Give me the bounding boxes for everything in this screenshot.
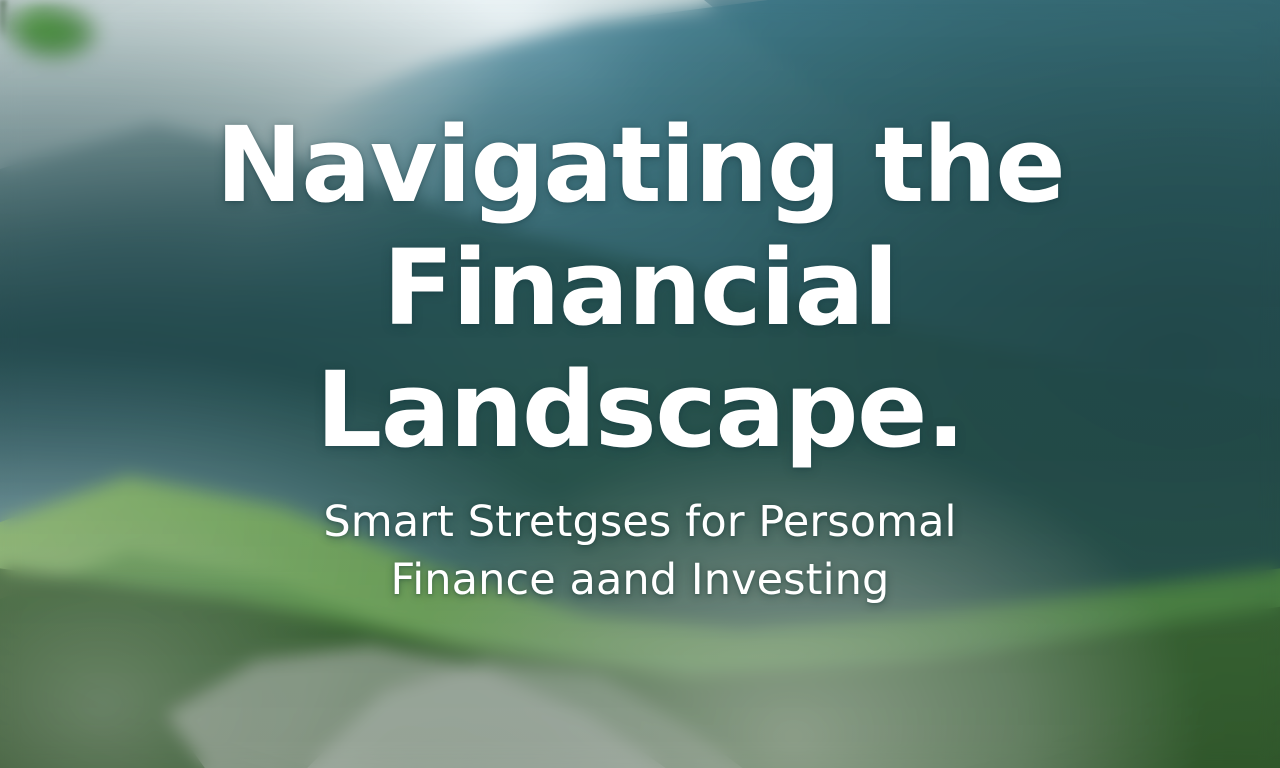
page-subtitle: Smart Stretgses for Persomal Finance aan… [170, 494, 1110, 609]
page-title: Navigating the Financial Landscape. [150, 104, 1130, 472]
subtitle-line-2: Finance aand Investing [170, 552, 1110, 610]
poster-content: Navigating the Financial Landscape. Smar… [0, 0, 1280, 768]
headline-line-3: Landscape. [150, 349, 1130, 472]
subtitle-line-1: Smart Stretgses for Persomal [170, 494, 1110, 552]
headline-line-1: Navigating the [150, 104, 1130, 227]
poster-canvas: Navigating the Financial Landscape. Smar… [0, 0, 1280, 768]
headline-line-2: Financial [150, 227, 1130, 350]
